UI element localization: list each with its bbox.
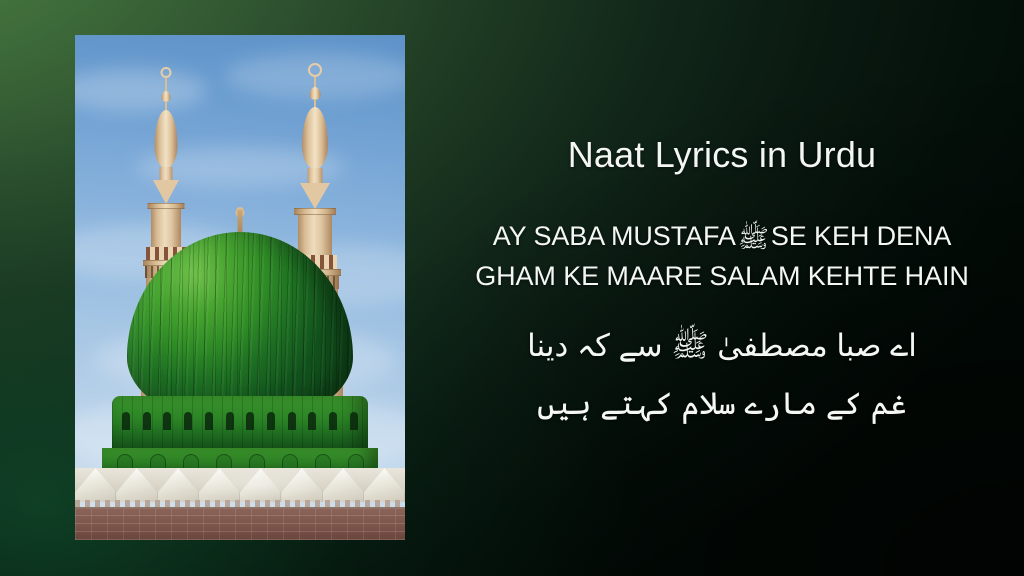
minaret-balcony-upper <box>294 208 336 215</box>
minaret-spike <box>165 78 167 92</box>
lyrics-latin-line-2: GHAM KE MAARE SALAM KEHTE HAIN <box>420 261 1024 292</box>
dome-window <box>246 412 254 430</box>
canopy-tent <box>199 468 240 502</box>
dome-window <box>267 412 275 430</box>
minaret-neck <box>308 168 323 184</box>
minaret-neck <box>160 167 173 181</box>
dome-window <box>308 412 316 430</box>
dome-ribs <box>127 232 353 422</box>
pbuh-symbol-icon: ﷺ <box>736 225 771 253</box>
canopy-tent <box>323 468 364 502</box>
dome-window <box>226 412 234 430</box>
lyrics-text-column: Naat Lyrics in Urdu AY SABA MUSTAFAﷺSE K… <box>420 0 1024 576</box>
canopy-tent <box>364 468 405 502</box>
dome-window <box>288 412 296 430</box>
lyrics-urdu-line-2: غم کے مارے سلام کہتے ہیں <box>420 385 1024 424</box>
dome-window <box>184 412 192 430</box>
canopy-tent <box>240 468 281 502</box>
canopy-tent <box>158 468 199 502</box>
minaret-cone <box>153 180 179 204</box>
canopy-tents <box>75 468 405 502</box>
crescent-finial-icon <box>308 63 322 77</box>
canopy-tent <box>281 468 322 502</box>
minaret-cone <box>300 183 330 209</box>
crescent-finial-icon <box>161 67 172 78</box>
dome-window <box>205 412 213 430</box>
lyrics-latin-line-1-after: SE KEH DENA <box>771 221 951 251</box>
minaret-bulb <box>155 110 178 168</box>
canopy-tent <box>116 468 157 502</box>
roof-canopy-row <box>75 468 405 502</box>
mosque-photo-inner <box>75 35 405 540</box>
poster-canvas: Naat Lyrics in Urdu AY SABA MUSTAFAﷺSE K… <box>0 0 1024 576</box>
dome-drum <box>112 396 368 454</box>
canopy-tent <box>75 468 116 502</box>
dome-window <box>163 412 171 430</box>
lyrics-latin-line-1-before: AY SABA MUSTAFA <box>493 221 736 251</box>
lyrics-latin-line-1: AY SABA MUSTAFAﷺSE KEH DENA <box>420 221 1024 260</box>
lyrics-urdu-line-1: اے صبا مصطفیٰ ﷺ سے کہ دینا <box>420 327 1024 366</box>
dome-window <box>143 412 151 430</box>
dome-window-row <box>122 412 358 430</box>
minaret-bulb <box>302 107 328 169</box>
brick-wall <box>75 509 405 540</box>
dome-window <box>329 412 337 430</box>
page-title: Naat Lyrics in Urdu <box>420 134 1024 176</box>
mosque-photo <box>75 35 405 540</box>
dome-window <box>122 412 130 430</box>
dome-cap <box>127 232 353 422</box>
green-dome <box>75 240 405 540</box>
dome-window <box>350 412 358 430</box>
